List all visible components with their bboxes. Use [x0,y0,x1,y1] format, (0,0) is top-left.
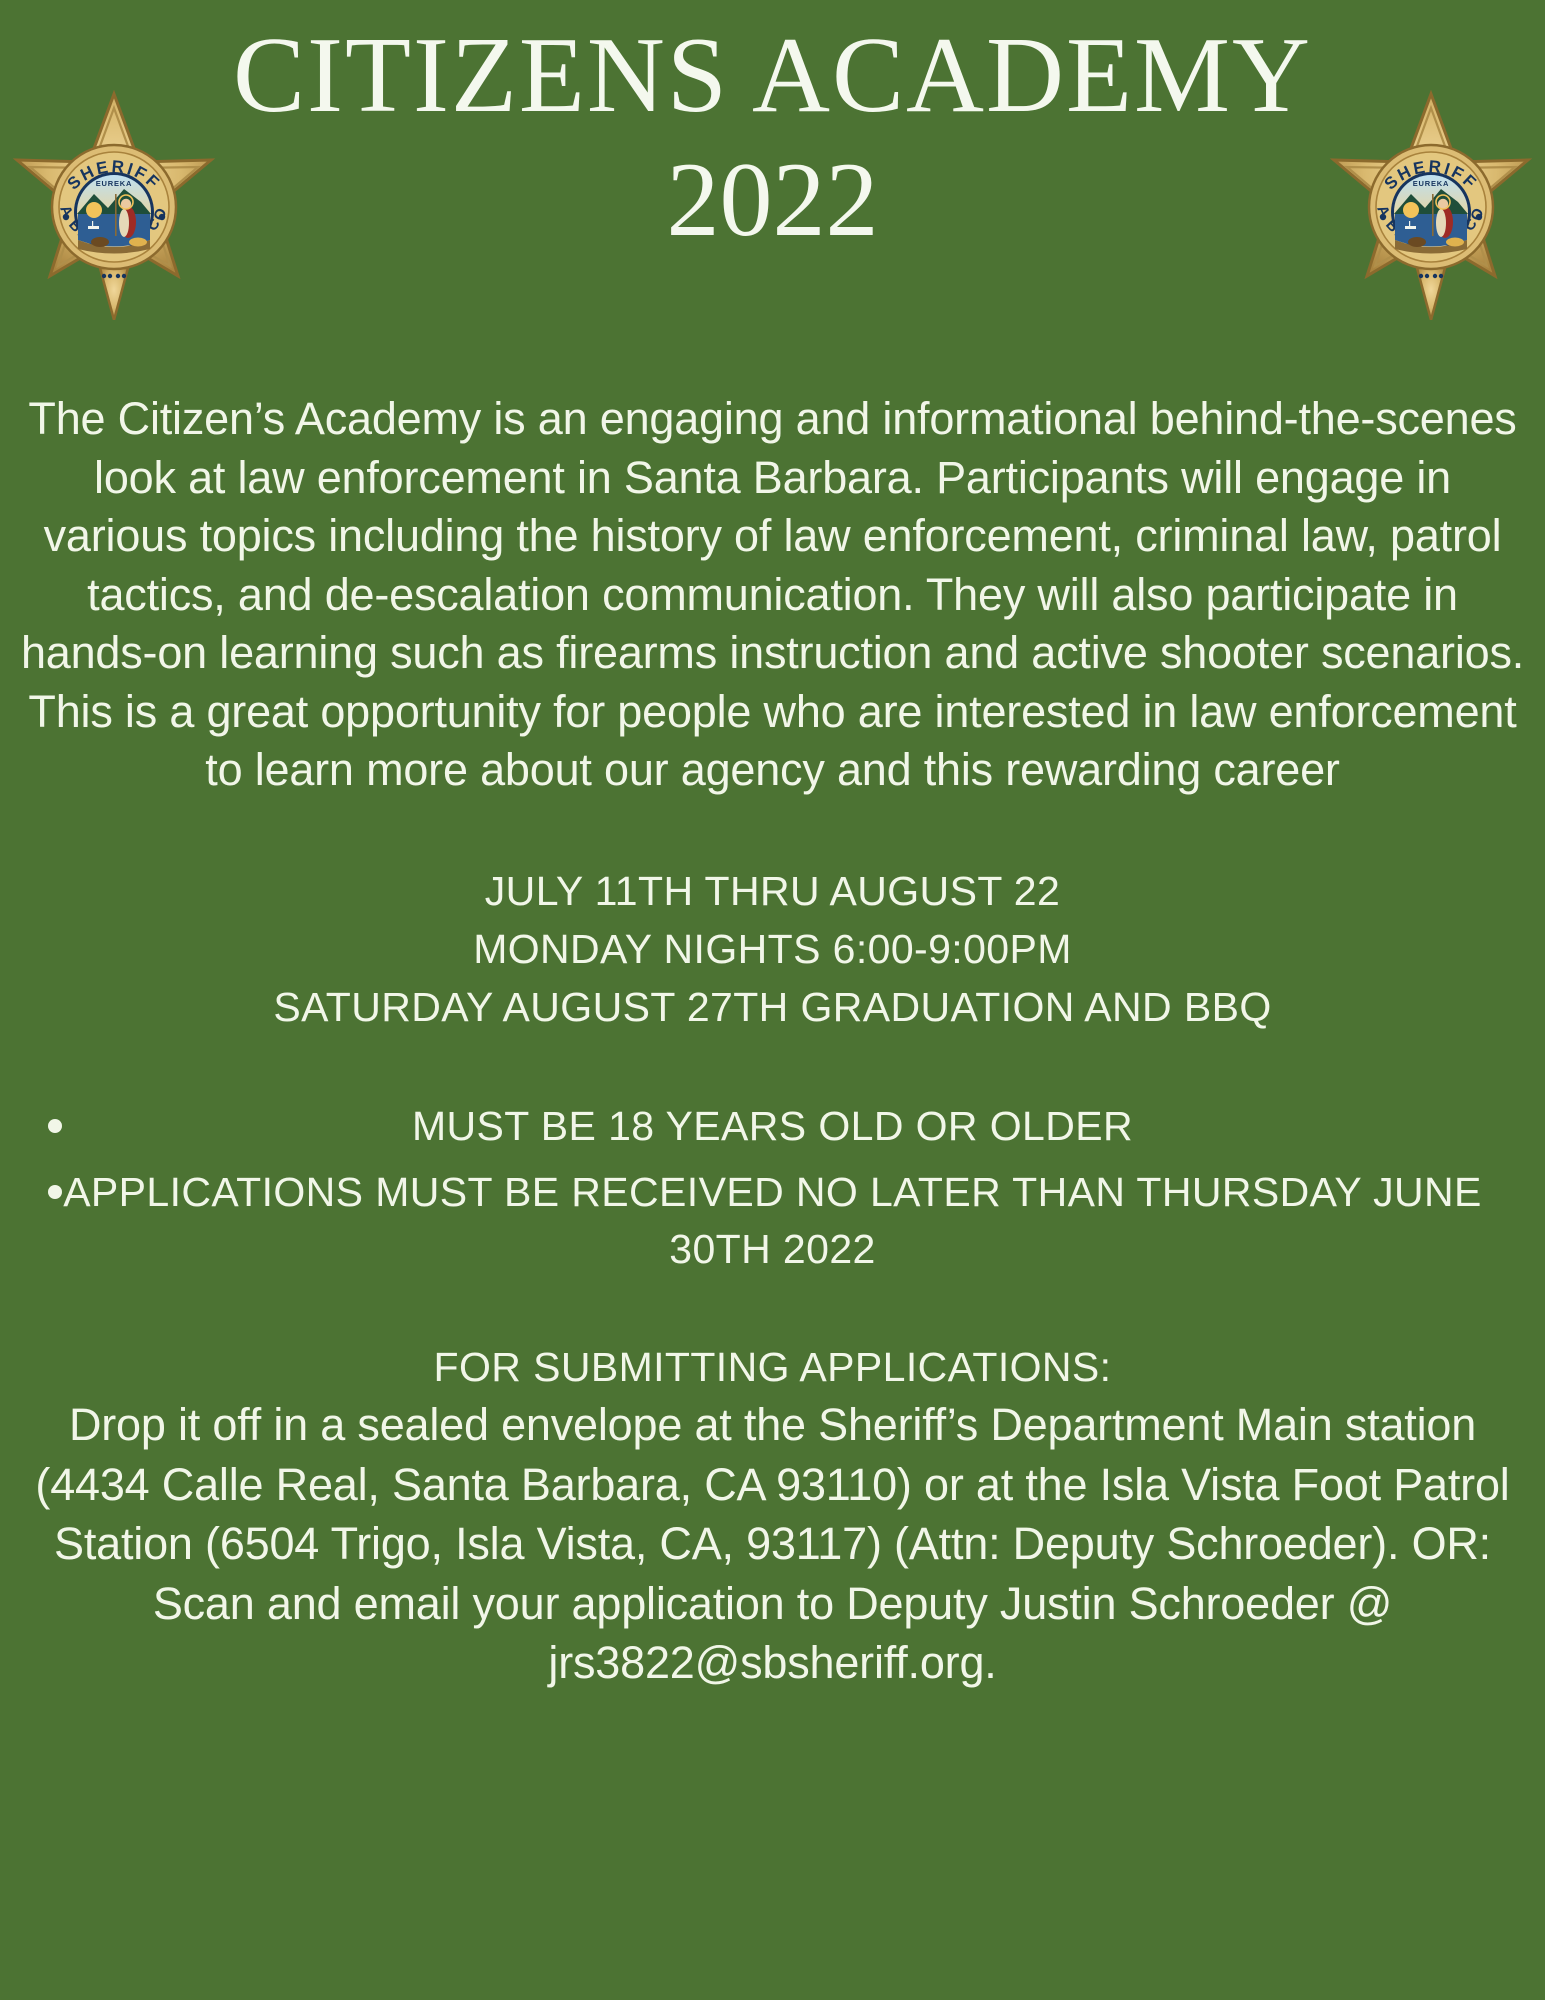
page-title: CITIZENS ACADEMY [0,0,1545,137]
requirements-list: MUST BE 18 YEARS OLD OR OLDER APPLICATIO… [14,1098,1531,1278]
flyer-header: SHERIFF SANTA BARBARA COUNTY [0,0,1545,360]
title-block: CITIZENS ACADEMY 2022 [0,0,1545,253]
intro-paragraph: The Citizen’s Academy is an engaging and… [14,390,1531,800]
requirement-deadline: APPLICATIONS MUST BE RECEIVED NO LATER T… [63,1169,1482,1272]
list-item: APPLICATIONS MUST BE RECEIVED NO LATER T… [14,1164,1531,1279]
svg-text:EUREKA: EUREKA [1413,179,1449,188]
submitting-heading: FOR SUBMITTING APPLICATIONS: [14,1344,1531,1391]
submitting-instructions: Drop it off in a sealed envelope at the … [14,1395,1531,1692]
sheriff-badge-left-icon: SHERIFF SANTA BARBARA COUNTY [8,90,220,320]
sheriff-badge-right-icon: SHERIFF SANTA BARBARA COUNTY [1325,90,1537,320]
svg-text:EUREKA: EUREKA [96,179,132,188]
schedule-block: JULY 11TH THRU AUGUST 22 MONDAY NIGHTS 6… [14,862,1531,1037]
list-item: MUST BE 18 YEARS OLD OR OLDER [14,1098,1531,1155]
flyer-page: SHERIFF SANTA BARBARA COUNTY [0,0,1545,2000]
submitting-block: FOR SUBMITTING APPLICATIONS: Drop it off… [14,1344,1531,1692]
flyer-content: The Citizen’s Academy is an engaging and… [0,390,1545,1692]
requirement-age: MUST BE 18 YEARS OLD OR OLDER [412,1103,1133,1149]
bullet-icon [48,1119,62,1133]
schedule-line-times: MONDAY NIGHTS 6:00-9:00PM [14,920,1531,978]
bullet-icon [48,1185,62,1199]
page-year: 2022 [0,137,1545,253]
schedule-line-graduation: SATURDAY AUGUST 27TH GRADUATION AND BBQ [14,978,1531,1036]
schedule-line-dates: JULY 11TH THRU AUGUST 22 [14,862,1531,920]
